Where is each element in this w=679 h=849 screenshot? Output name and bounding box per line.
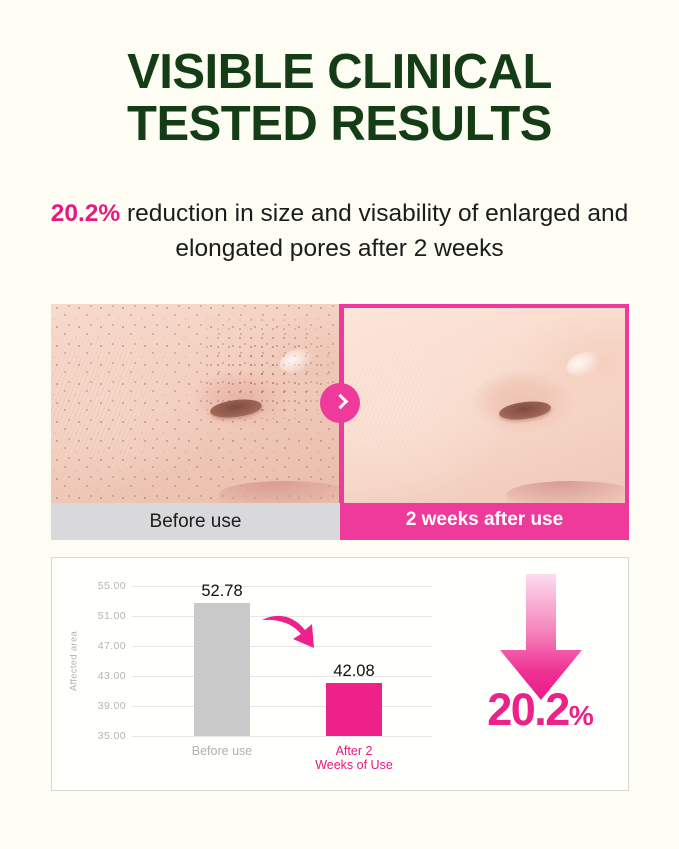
y-axis-tick: 51.00 [98,610,126,622]
results-chart-card: Affected area 55.0051.0047.0043.0039.003… [51,557,629,791]
x-label-after: After 2 Weeks of Use [294,744,414,772]
gridline [132,706,432,707]
stat-value: 20.2% [450,686,630,740]
chevron-glyph [333,394,349,410]
page-title-line-1: VISIBLE CLINICAL [127,45,552,99]
gridline [132,736,432,737]
page-title: VISIBLE CLINICAL TESTED RESULTS [0,46,679,150]
bar-value-before: 52.78 [174,582,270,601]
before-caption: Before use [51,503,340,540]
y-axis-tick: 35.00 [98,730,126,742]
x-label-before-line-1: Before use [192,744,252,758]
y-axis-label: Affected area [69,631,80,691]
x-label-after-line-2: Weeks of Use [315,758,393,772]
bar-value-after: 42.08 [306,662,402,681]
subheadline-text: reduction in size and visability of enla… [120,200,628,262]
bar-after-2-weeks [326,683,382,736]
bar-chart-plot: Affected area 55.0051.0047.0043.0039.003… [132,586,432,736]
y-axis-tick: 43.00 [98,670,126,682]
after-photo [340,304,629,503]
after-caption: 2 weeks after use [340,503,629,540]
stat-number: 20.2 [487,684,569,735]
x-label-before: Before use [162,744,282,758]
before-after-comparison: Before use 2 weeks after use [51,304,629,540]
subheadline: 20.2% reduction in size and visability o… [40,196,639,266]
skin-lines-after [344,308,507,503]
curved-decrease-arrow-icon [260,608,330,656]
y-axis-tick: 55.00 [98,580,126,592]
stat-percent-symbol: % [569,700,593,731]
before-photo [51,304,340,503]
bar-before-use [194,603,250,736]
y-axis-tick: 39.00 [98,700,126,712]
stat-callout: 20.2% [450,564,630,786]
chevron-right-icon [320,383,360,423]
y-axis-tick: 47.00 [98,640,126,652]
subheadline-percentage: 20.2% [51,200,120,227]
page-title-line-2: TESTED RESULTS [0,98,679,150]
lip-before [219,481,340,503]
lip-after [507,481,629,503]
x-label-after-line-1: After 2 [336,744,373,758]
